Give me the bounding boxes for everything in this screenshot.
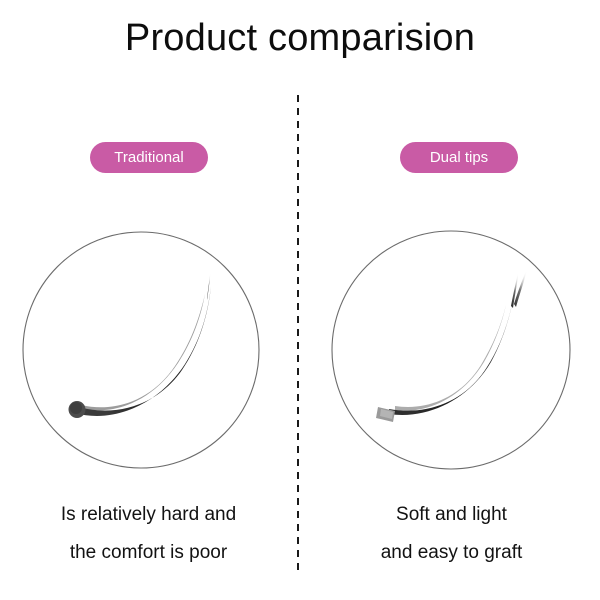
lash-tip — [207, 268, 211, 300]
badge-traditional[interactable]: Traditional — [90, 142, 208, 173]
lash-shaft-highlight — [395, 305, 506, 411]
column-traditional: Traditional — [0, 0, 297, 600]
caption-line: Soft and light — [303, 496, 600, 534]
lash-shaft — [389, 300, 513, 415]
badge-dual-tips[interactable]: Dual tips — [400, 142, 518, 173]
lash-base-shade — [70, 402, 82, 414]
caption-line: Is relatively hard and — [0, 496, 297, 534]
column-dual-tips: Dual tips — [303, 0, 600, 600]
caption-line: the comfort is poor — [0, 534, 297, 572]
caption-traditional: Is relatively hard and the comfort is po… — [0, 496, 297, 572]
circle-outline — [23, 232, 259, 468]
dual-tips-lash-illustration — [329, 228, 573, 472]
product-comparison-page: Product comparision Traditional — [0, 0, 600, 600]
vertical-dashed-divider — [297, 95, 299, 575]
traditional-lash-illustration — [19, 228, 263, 472]
circle-outline — [332, 231, 570, 469]
lash-highlight — [81, 294, 205, 410]
caption-line: and easy to graft — [303, 534, 600, 572]
caption-dual-tips: Soft and light and easy to graft — [303, 496, 600, 572]
